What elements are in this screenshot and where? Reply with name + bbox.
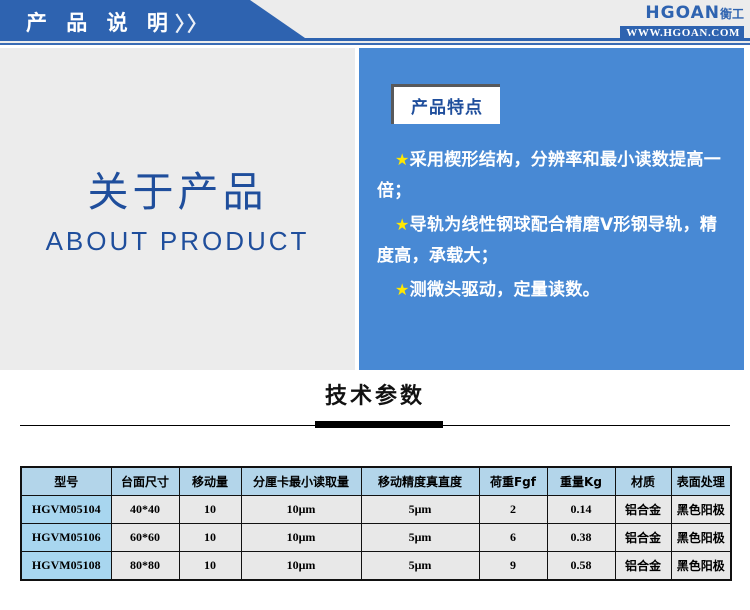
column-header-surface: 表面处理 (671, 467, 731, 496)
about-title-english: ABOUT PRODUCT (0, 226, 355, 257)
cell-table-size: 60*60 (111, 524, 179, 552)
cell-surface: 黑色阳极 (671, 552, 731, 581)
cell-material: 铝合金 (615, 496, 671, 524)
cell-model: HGVM05106 (21, 524, 111, 552)
table-row: HGVM05104 40*40 10 10μm 5μm 2 0.14 铝合金 黑… (21, 496, 731, 524)
column-header-weight: 重量Kg (547, 467, 615, 496)
column-header-straightness: 移动精度真直度 (361, 467, 479, 496)
cell-weight: 0.14 (547, 496, 615, 524)
brand-logo[interactable]: HGOAN衡工 WWW.HGOAN.COM (574, 4, 744, 41)
cell-load: 9 (479, 552, 547, 581)
logo-website-url[interactable]: WWW.HGOAN.COM (620, 26, 744, 40)
column-header-table-size: 台面尺寸 (111, 467, 179, 496)
logo-wordmark: HGOAN衡工 (574, 4, 744, 23)
spec-table: 型号 台面尺寸 移动量 分厘卡最小读取量 移动精度真直度 荷重Fgf 重量Kg … (20, 466, 732, 581)
table-row: HGVM05108 80*80 10 10μm 5μm 9 0.58 铝合金 黑… (21, 552, 731, 581)
cell-travel: 10 (179, 552, 241, 581)
about-title-chinese: 关于产品 (0, 158, 355, 218)
spec-section-title: 技术参数 (325, 384, 425, 409)
cell-material: 铝合金 (615, 552, 671, 581)
cell-straightness: 5μm (361, 552, 479, 581)
cell-straightness: 5μm (361, 524, 479, 552)
cell-min-reading: 10μm (241, 496, 361, 524)
cell-weight: 0.58 (547, 552, 615, 581)
logo-latin-text: HGOAN (645, 3, 720, 23)
features-list: ★采用楔形结构，分辨率和最小读数提高一倍； ★导轨为线性钢球配合精磨V形钢导轨，… (377, 144, 729, 308)
column-header-min-reading: 分厘卡最小读取量 (241, 467, 361, 496)
star-icon: ★ (395, 215, 410, 234)
cell-model: HGVM05104 (21, 496, 111, 524)
spec-table-wrap: 型号 台面尺寸 移动量 分厘卡最小读取量 移动精度真直度 荷重Fgf 重量Kg … (20, 466, 730, 581)
cell-travel: 10 (179, 496, 241, 524)
cell-table-size: 40*40 (111, 496, 179, 524)
spec-section-title-wrap: 技术参数 (0, 378, 750, 410)
table-row: HGVM05106 60*60 10 10μm 5μm 6 0.38 铝合金 黑… (21, 524, 731, 552)
header-rule-secondary (0, 43, 750, 45)
cell-surface: 黑色阳极 (671, 496, 731, 524)
column-header-load: 荷重Fgf (479, 467, 547, 496)
cell-min-reading: 10μm (241, 552, 361, 581)
features-panel: 产品特点 ★采用楔形结构，分辨率和最小读数提高一倍； ★导轨为线性钢球配合精磨V… (359, 48, 744, 370)
cell-load: 2 (479, 496, 547, 524)
feature-text: 测微头驱动，定量读数。 (410, 280, 600, 300)
cell-min-reading: 10μm (241, 524, 361, 552)
column-header-travel: 移动量 (179, 467, 241, 496)
feature-text: 导轨为线性钢球配合精磨V形钢导轨，精度高，承载大； (377, 215, 717, 266)
cell-material: 铝合金 (615, 524, 671, 552)
table-header-row: 型号 台面尺寸 移动量 分厘卡最小读取量 移动精度真直度 荷重Fgf 重量Kg … (21, 467, 731, 496)
header-banner-title: 产 品 说 明 (26, 7, 174, 37)
cell-surface: 黑色阳极 (671, 524, 731, 552)
list-item: ★测微头驱动，定量读数。 (377, 274, 729, 306)
about-section: 关于产品 ABOUT PRODUCT 产品特点 ★采用楔形结构，分辨率和最小读数… (0, 48, 750, 370)
list-item: ★采用楔形结构，分辨率和最小读数提高一倍； (377, 144, 729, 207)
cell-travel: 10 (179, 524, 241, 552)
logo-chinese-text: 衡工 (720, 7, 744, 21)
cell-weight: 0.38 (547, 524, 615, 552)
spec-divider-accent (315, 421, 443, 428)
star-icon: ★ (395, 150, 410, 169)
cell-straightness: 5μm (361, 496, 479, 524)
star-icon: ★ (395, 280, 410, 299)
cell-table-size: 80*80 (111, 552, 179, 581)
features-tag-label: 产品特点 (391, 84, 500, 124)
column-header-model: 型号 (21, 467, 111, 496)
cell-load: 6 (479, 524, 547, 552)
double-chevron-icon: 〉〉 (175, 8, 209, 37)
page-header: 产 品 说 明 〉〉 HGOAN衡工 WWW.HGOAN.COM (0, 0, 750, 45)
list-item: ★导轨为线性钢球配合精磨V形钢导轨，精度高，承载大； (377, 209, 729, 272)
cell-model: HGVM05108 (21, 552, 111, 581)
column-header-material: 材质 (615, 467, 671, 496)
feature-text: 采用楔形结构，分辨率和最小读数提高一倍； (377, 150, 721, 201)
about-left-panel: 关于产品 ABOUT PRODUCT (0, 48, 355, 370)
